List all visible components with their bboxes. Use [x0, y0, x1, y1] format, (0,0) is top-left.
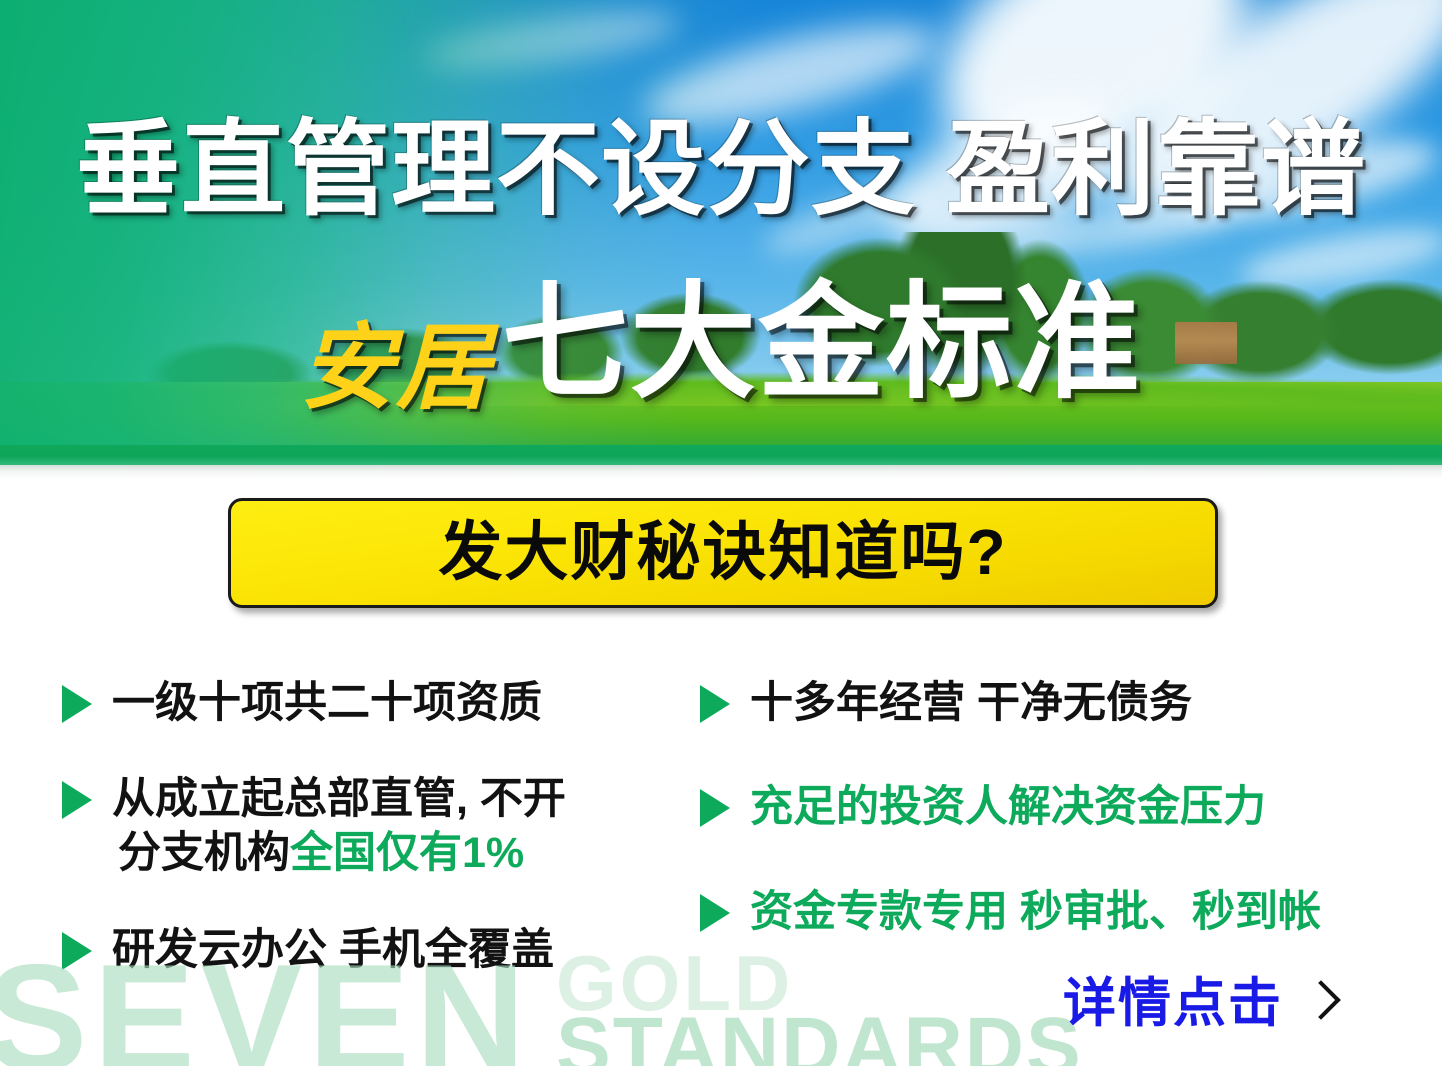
advertisement-banner: 垂直管理不设分支 盈利靠谱 安居七大金标准 发大财秘诀知道吗? 一级十项共二十项…: [0, 0, 1442, 1066]
list-item-label: 充足的投资人解决资金压力: [750, 780, 1266, 834]
list-item-label: 十多年经营 干净无债务: [750, 676, 1192, 730]
list-item: 从成立起总部直管, 不开 分支机构全国仅有1%: [62, 772, 566, 880]
watermark-standards: STANDARDS: [556, 1006, 1083, 1066]
list-item-label: 研发云办公 手机全覆盖: [112, 923, 554, 977]
details-cta-label: 详情点击: [1063, 977, 1283, 1030]
hero-headline-brand: 安居: [300, 321, 492, 415]
green-bottom-strip: [0, 445, 1442, 465]
list-item-highlight: 全国仅有1%: [290, 829, 524, 877]
list-item-line-text: 分支机构: [118, 829, 290, 877]
triangle-bullet-icon: [62, 685, 92, 723]
list-item-line: 一级十项共二十项资质: [112, 676, 542, 730]
details-cta-button[interactable]: 详情点击: [1063, 977, 1331, 1030]
hero-drop-shadow: [0, 465, 1442, 479]
triangle-bullet-icon: [62, 932, 92, 970]
list-item-label: 一级十项共二十项资质: [112, 676, 542, 730]
feature-list: 一级十项共二十项资质 从成立起总部直管, 不开 分支机构全国仅有1% 研发云办公…: [0, 660, 1442, 1000]
list-item-line: 从成立起总部直管, 不开: [112, 772, 566, 826]
hero-headline-slogan: 七大金标准: [502, 280, 1142, 406]
hero-headline-secondary: 安居七大金标准: [0, 280, 1442, 415]
triangle-bullet-icon: [700, 685, 730, 723]
list-item-label: 从成立起总部直管, 不开 分支机构全国仅有1%: [112, 772, 566, 880]
list-item-line: 分支机构全国仅有1%: [118, 826, 566, 880]
triangle-bullet-icon: [700, 789, 730, 827]
list-item-label: 资金专款专用 秒审批、秒到帐: [750, 885, 1321, 939]
list-item-line: 研发云办公 手机全覆盖: [112, 923, 554, 977]
triangle-bullet-icon: [62, 781, 92, 819]
list-item: 资金专款专用 秒审批、秒到帐: [700, 885, 1321, 939]
list-item: 研发云办公 手机全覆盖: [62, 923, 554, 977]
list-item: 一级十项共二十项资质: [62, 676, 542, 730]
triangle-bullet-icon: [700, 894, 730, 932]
question-banner[interactable]: 发大财秘诀知道吗?: [228, 498, 1218, 608]
hero-section: 垂直管理不设分支 盈利靠谱 安居七大金标准: [0, 0, 1442, 465]
list-item: 充足的投资人解决资金压力: [700, 780, 1266, 834]
question-banner-label: 发大财秘诀知道吗?: [438, 520, 1007, 584]
hero-headline-primary: 垂直管理不设分支 盈利靠谱: [0, 118, 1442, 222]
chevron-right-icon: [1305, 981, 1331, 1027]
list-item: 十多年经营 干净无债务: [700, 676, 1192, 730]
